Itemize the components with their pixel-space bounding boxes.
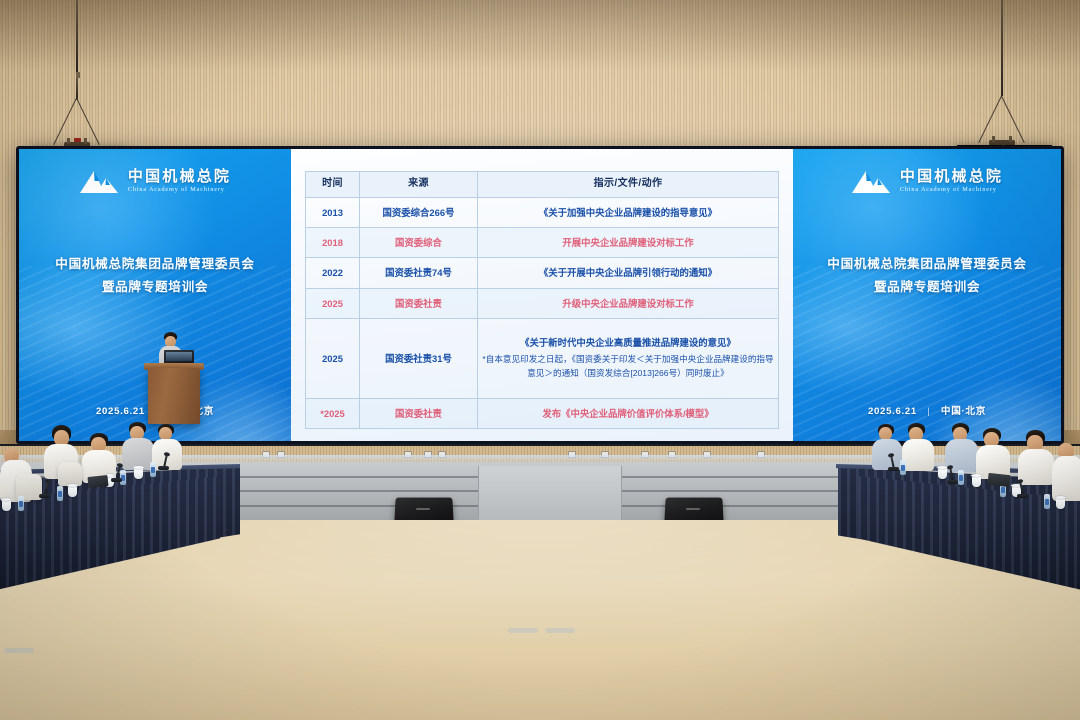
brand-text-right: 中国机械总院 China Academy of Machinery [900,170,1003,194]
cell-source: 国资委社责 [360,288,478,318]
policy-timeline-table: 时间 来源 指示/文件/动作 2013 国资委综合266号 《关于加强中央企业品… [305,171,779,429]
cell-time: 2025 [306,318,360,398]
cell-time: *2025 [306,398,360,428]
wall-top-shadow [0,0,1080,70]
cell-action: 发布《中央企业品牌价值评价体系/模型》 [478,398,779,428]
microphone-base [947,480,958,484]
wall-outlet [568,451,576,458]
slide-title-left-line1: 中国机械总院集团品牌管理委员会 [27,253,283,276]
floor-vent [4,648,34,653]
slide-location-right: 中国·北京 [941,406,986,417]
slide-center-table-panel: 时间 来源 指示/文件/动作 2013 国资委综合266号 《关于加强中央企业品… [291,149,793,441]
brand-text-left: 中国机械总院 China Academy of Machinery [128,170,231,194]
attendee [1018,430,1054,484]
wall-outlet [641,451,649,458]
table-header-source: 来源 [360,172,478,198]
attendee [945,423,978,471]
wall-outlet [668,451,676,458]
microphone-base [888,467,899,471]
table-row: 2025 国资委社责 升级中央企业品牌建设对标工作 [306,288,779,318]
brand-name-en: China Academy of Machinery [128,187,225,193]
water-bottle [150,462,156,477]
wall-outlet [601,451,609,458]
laptop-screen [166,352,192,361]
slide-title-right: 中国机械总院集团品牌管理委员会 暨品牌专题培训会 [801,253,1053,300]
laptop [987,473,1010,487]
cell-action-footnote: *自本意见印发之日起，《国资委关于印发＜关于加强中央企业品牌建设的指导意见＞的通… [482,353,774,381]
cell-source: 国资委社责74号 [360,258,478,288]
wall-outlet [262,451,270,458]
cell-time: 2018 [306,228,360,258]
speaker-suspension-cable [1001,0,1003,96]
table-row: *2025 国资委社责 发布《中央企业品牌价值评价体系/模型》 [306,398,779,428]
table-header-action: 指示/文件/动作 [478,172,779,198]
water-bottle [900,460,906,475]
wall-outlet [277,451,285,458]
microphone-base [39,494,50,498]
attendee [152,424,182,470]
table-row: 2013 国资委综合266号 《关于加强中央企业品牌建设的指导意见》 [306,198,779,228]
speaker-suspension-cable [76,0,78,72]
mountain-logo-icon [851,168,893,195]
water-bottle [18,496,24,511]
chair [58,462,82,486]
brand-name-cn: 中国机械总院 [128,170,231,185]
speaker-rigging-tag [74,138,81,142]
water-bottle [1044,494,1050,509]
slide-date-right: 2025.6.21 [868,406,917,417]
slide-title-left-line2: 暨品牌专题培训会 [27,276,283,299]
slide-title-right-line2: 暨品牌专题培训会 [801,276,1053,299]
cell-time: 2013 [306,198,360,228]
floor-vent [508,628,538,633]
attendee [1052,443,1080,501]
microphone-base [111,478,122,482]
cell-action: 《关于开展中央企业品牌引领行动的通知》 [478,258,779,288]
teacup [972,476,981,487]
cell-source: 国资委综合266号 [360,198,478,228]
slide-meta-right: 2025.6.21 | 中国·北京 [793,403,1061,417]
brand-name-cn: 中国机械总院 [900,170,1003,185]
cell-source: 国资委社责 [360,398,478,428]
wall-outlet [424,451,432,458]
teacup [938,468,947,479]
floor-vent [545,628,575,633]
cell-action: 《关于加强中央企业品牌建设的指导意见》 [478,198,779,228]
teacup [1056,498,1065,509]
cell-source: 国资委综合 [360,228,478,258]
cell-time: 2025 [306,288,360,318]
attendee [872,424,902,470]
laptop [87,475,108,488]
teacup [2,500,11,511]
teacup [134,468,143,479]
brand-lockup-right: 中国机械总院 China Academy of Machinery [793,168,1061,195]
slide-title-right-line1: 中国机械总院集团品牌管理委员会 [801,253,1053,276]
wall-outlet [438,451,446,458]
attendee-body [902,439,934,471]
mountain-logo-icon [79,168,121,195]
microphone-base [1017,494,1028,498]
brand-name-en: China Academy of Machinery [900,187,997,193]
wall-outlet [703,451,711,458]
attendee [976,428,1010,478]
wall-outlet [404,451,412,458]
attendee-body [1052,456,1080,501]
cell-action: 升级中央企业品牌建设对标工作 [478,288,779,318]
attendee-body [1018,449,1054,485]
water-bottle [57,486,63,501]
cell-source: 国资委社责31号 [360,318,478,398]
teacup [68,486,77,497]
cell-action: 开展中央企业品牌建设对标工作 [478,228,779,258]
cell-action: 《关于新时代中央企业高质量推进品牌建设的意见》 *自本意见印发之日起，《国资委关… [478,318,779,398]
slide-meta-separator: | [927,406,930,417]
microphone-base [158,466,169,470]
water-bottle [958,470,964,485]
brand-lockup-left: 中国机械总院 China Academy of Machinery [19,168,291,195]
conference-room-scene: 中国机械总院 China Academy of Machinery 中国机械总院… [0,0,1080,720]
table-row: 2025 国资委社责31号 《关于新时代中央企业高质量推进品牌建设的意见》 *自… [306,318,779,398]
table-row: 2018 国资委综合 开展中央企业品牌建设对标工作 [306,228,779,258]
slide-right-branding-panel: 中国机械总院 China Academy of Machinery 中国机械总院… [793,149,1061,441]
stage-center-access-panel [478,466,622,524]
cell-action-main: 《关于新时代中央企业高质量推进品牌建设的意见》 [520,337,736,348]
attendee [902,423,934,470]
table-row: 2022 国资委社责74号 《关于开展中央企业品牌引领行动的通知》 [306,258,779,288]
speaker-podium [148,368,200,424]
cell-time: 2022 [306,258,360,288]
table-header-time: 时间 [306,172,360,198]
table-header-row: 时间 来源 指示/文件/动作 [306,172,779,198]
slide-date-left: 2025.6.21 [96,406,145,417]
slide-title-left: 中国机械总院集团品牌管理委员会 暨品牌专题培训会 [27,253,283,300]
wall-outlet [757,451,765,458]
